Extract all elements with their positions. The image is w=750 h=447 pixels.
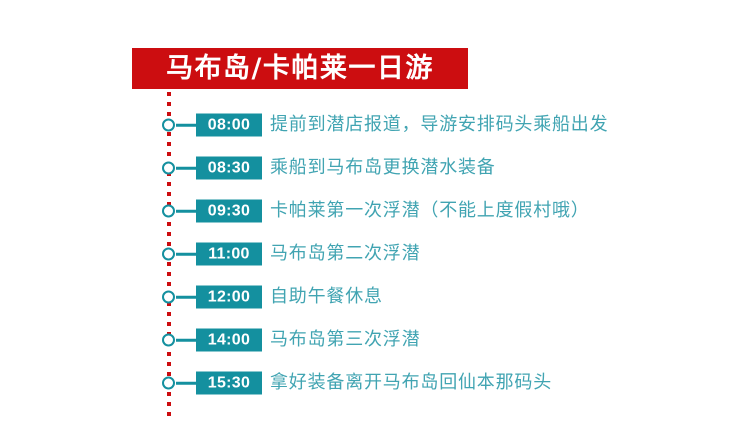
timeline-time-badge: 11:00	[196, 243, 262, 266]
timeline-connector	[176, 296, 197, 299]
timeline-time-badge: 09:30	[196, 200, 262, 223]
timeline-time-badge: 14:00	[196, 329, 262, 352]
timeline-marker-circle-icon	[162, 119, 175, 132]
timeline-row: 08:00 提前到潜店报道，导游安排码头乘船出发	[0, 110, 750, 140]
timeline-connector	[176, 339, 197, 342]
timeline-description: 乘船到马布岛更换潜水装备	[270, 159, 496, 177]
timeline-marker-circle-icon	[162, 334, 175, 347]
timeline-marker-circle-icon	[162, 291, 175, 304]
timeline-row: 14:00 马布岛第三次浮潜	[0, 325, 750, 355]
timeline-row: 12:00 自助午餐休息	[0, 282, 750, 312]
timeline-time-badge: 08:30	[196, 157, 262, 180]
timeline-connector	[176, 210, 197, 213]
timeline-marker-circle-icon	[162, 162, 175, 175]
timeline-connector	[176, 124, 197, 127]
timeline-connector	[176, 382, 197, 385]
timeline-marker-circle-icon	[162, 205, 175, 218]
timeline-time-badge: 08:00	[196, 114, 262, 137]
timeline-row: 08:30 乘船到马布岛更换潜水装备	[0, 153, 750, 183]
timeline-row: 09:30 卡帕莱第一次浮潜（不能上度假村哦）	[0, 196, 750, 226]
timeline-description: 提前到潜店报道，导游安排码头乘船出发	[270, 116, 608, 134]
timeline-connector	[176, 253, 197, 256]
timeline-row: 15:30 拿好装备离开马布岛回仙本那码头	[0, 368, 750, 398]
timeline-connector	[176, 167, 197, 170]
timeline-description: 自助午餐休息	[270, 288, 383, 306]
timeline-marker-circle-icon	[162, 248, 175, 261]
timeline-description: 卡帕莱第一次浮潜（不能上度假村哦）	[270, 202, 590, 220]
timeline-description: 马布岛第三次浮潜	[270, 331, 420, 349]
timeline-description: 马布岛第二次浮潜	[270, 245, 420, 263]
timeline-row: 11:00 马布岛第二次浮潜	[0, 239, 750, 269]
timeline-time-badge: 15:30	[196, 372, 262, 395]
timeline-description: 拿好装备离开马布岛回仙本那码头	[270, 374, 552, 392]
timeline-time-badge: 12:00	[196, 286, 262, 309]
itinerary-timeline: 08:00 提前到潜店报道，导游安排码头乘船出发 08:30 乘船到马布岛更换潜…	[0, 0, 750, 447]
timeline-marker-circle-icon	[162, 377, 175, 390]
